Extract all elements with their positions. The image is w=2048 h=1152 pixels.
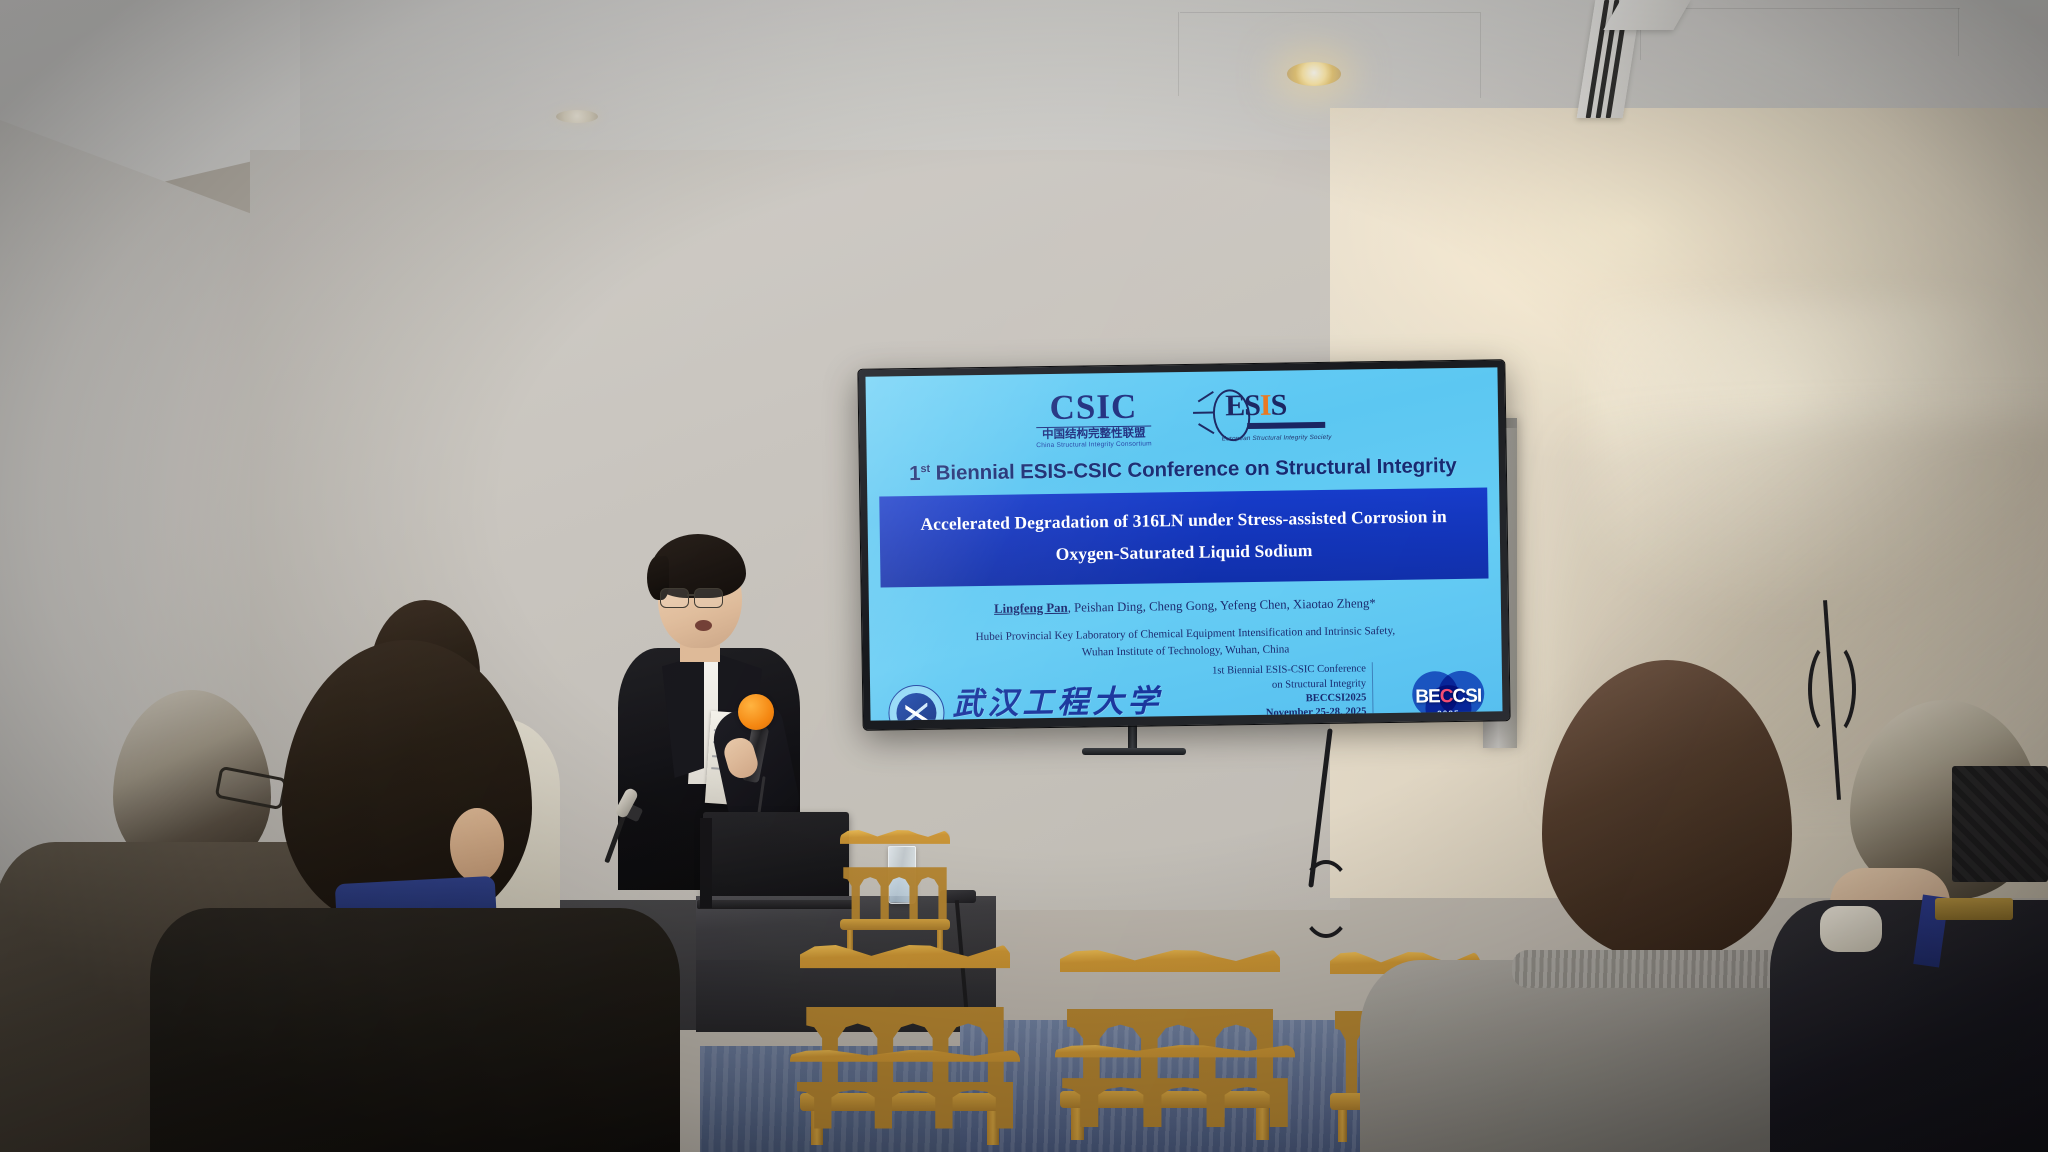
presenter-laptop[interactable] [703,812,849,904]
shirt-collar [1820,906,1882,952]
chair [1055,1045,1295,1152]
university-name-chinese: 武汉工程大学 [952,685,1162,719]
laptop-base [697,900,857,909]
ear [450,808,504,882]
cable-loop [1300,860,1352,938]
co-authors: , Peishan Ding, Cheng Gong, Yefeng Chen,… [1068,596,1376,615]
slide-content: CSIC 中国结构完整性联盟 China Structural Integrit… [865,367,1502,720]
equipment-trim [1935,898,2013,920]
conference-meta: 1st Biennial ESIS-CSIC Conference on Str… [1199,663,1374,721]
esis-logo: ESIS European Structural Integrity Socie… [1203,386,1329,454]
slide-footer: 1972 武汉工程大学 Wuhan Institute of Technolog… [882,661,1491,721]
ceiling-seam [1178,12,1179,96]
slide-authors-block: Lingfeng Pan, Peishan Ding, Cheng Gong, … [881,578,1490,670]
slide-authors: Lingfeng Pan, Peishan Ding, Cheng Gong, … [891,594,1479,618]
glasses-bridge-icon [687,594,694,596]
slide-logo-row: CSIC 中国结构完整性联盟 China Structural Integrit… [878,372,1487,459]
ceiling-seam [1640,8,1960,9]
chair [790,1050,1020,1152]
csic-wordmark: CSIC [1035,388,1151,425]
ceiling-downlight [1287,62,1341,86]
monitor-edge [700,818,712,908]
conference-room-photo: CSIC 中国结构完整性联盟 China Structural Integrit… [0,0,2048,1152]
glasses-lens-left-icon [660,588,689,608]
tv-screen: CSIC 中国结构完整性联盟 China Structural Integrit… [865,367,1502,720]
tv-stand-base [1082,748,1186,755]
glasses-lens-right-icon [694,588,723,608]
ceiling-downlight-small [556,110,598,123]
esis-wordmark: ESIS [1225,390,1287,421]
csic-english-name: China Structural Integrity Consortium [1036,441,1152,449]
ceiling-seam [1480,12,1481,98]
chair [840,830,950,950]
csic-chinese-name: 中国结构完整性联盟 [1036,425,1152,441]
ceiling-seam [1958,8,1959,56]
csic-logo: CSIC 中国结构完整性联盟 China Structural Integrit… [1035,388,1151,449]
esis-subtitle: European Structural Integrity Society [1222,434,1332,443]
university-seal-icon: 1972 [888,684,945,720]
slide-affiliation: Hubei Provincial Key Laboratory of Chemi… [891,621,1479,663]
wuhan-institute-logo: 1972 武汉工程大学 Wuhan Institute of Technolog… [888,681,1163,720]
audience-member [150,640,680,1152]
esis-underbar [1247,422,1325,429]
ceiling-seam [1180,12,1480,13]
microphone-icon [738,694,774,730]
presenting-author: Lingfeng Pan [994,600,1068,615]
presentation-screen[interactable]: CSIC 中国结构完整性联盟 China Structural Integrit… [858,360,1509,730]
tv-stand-neck [1128,722,1137,750]
presenter-mouth [695,620,712,631]
speaker-cabinet [1952,766,2048,882]
slide-title-band: Accelerated Degradation of 316LN under S… [879,487,1488,587]
